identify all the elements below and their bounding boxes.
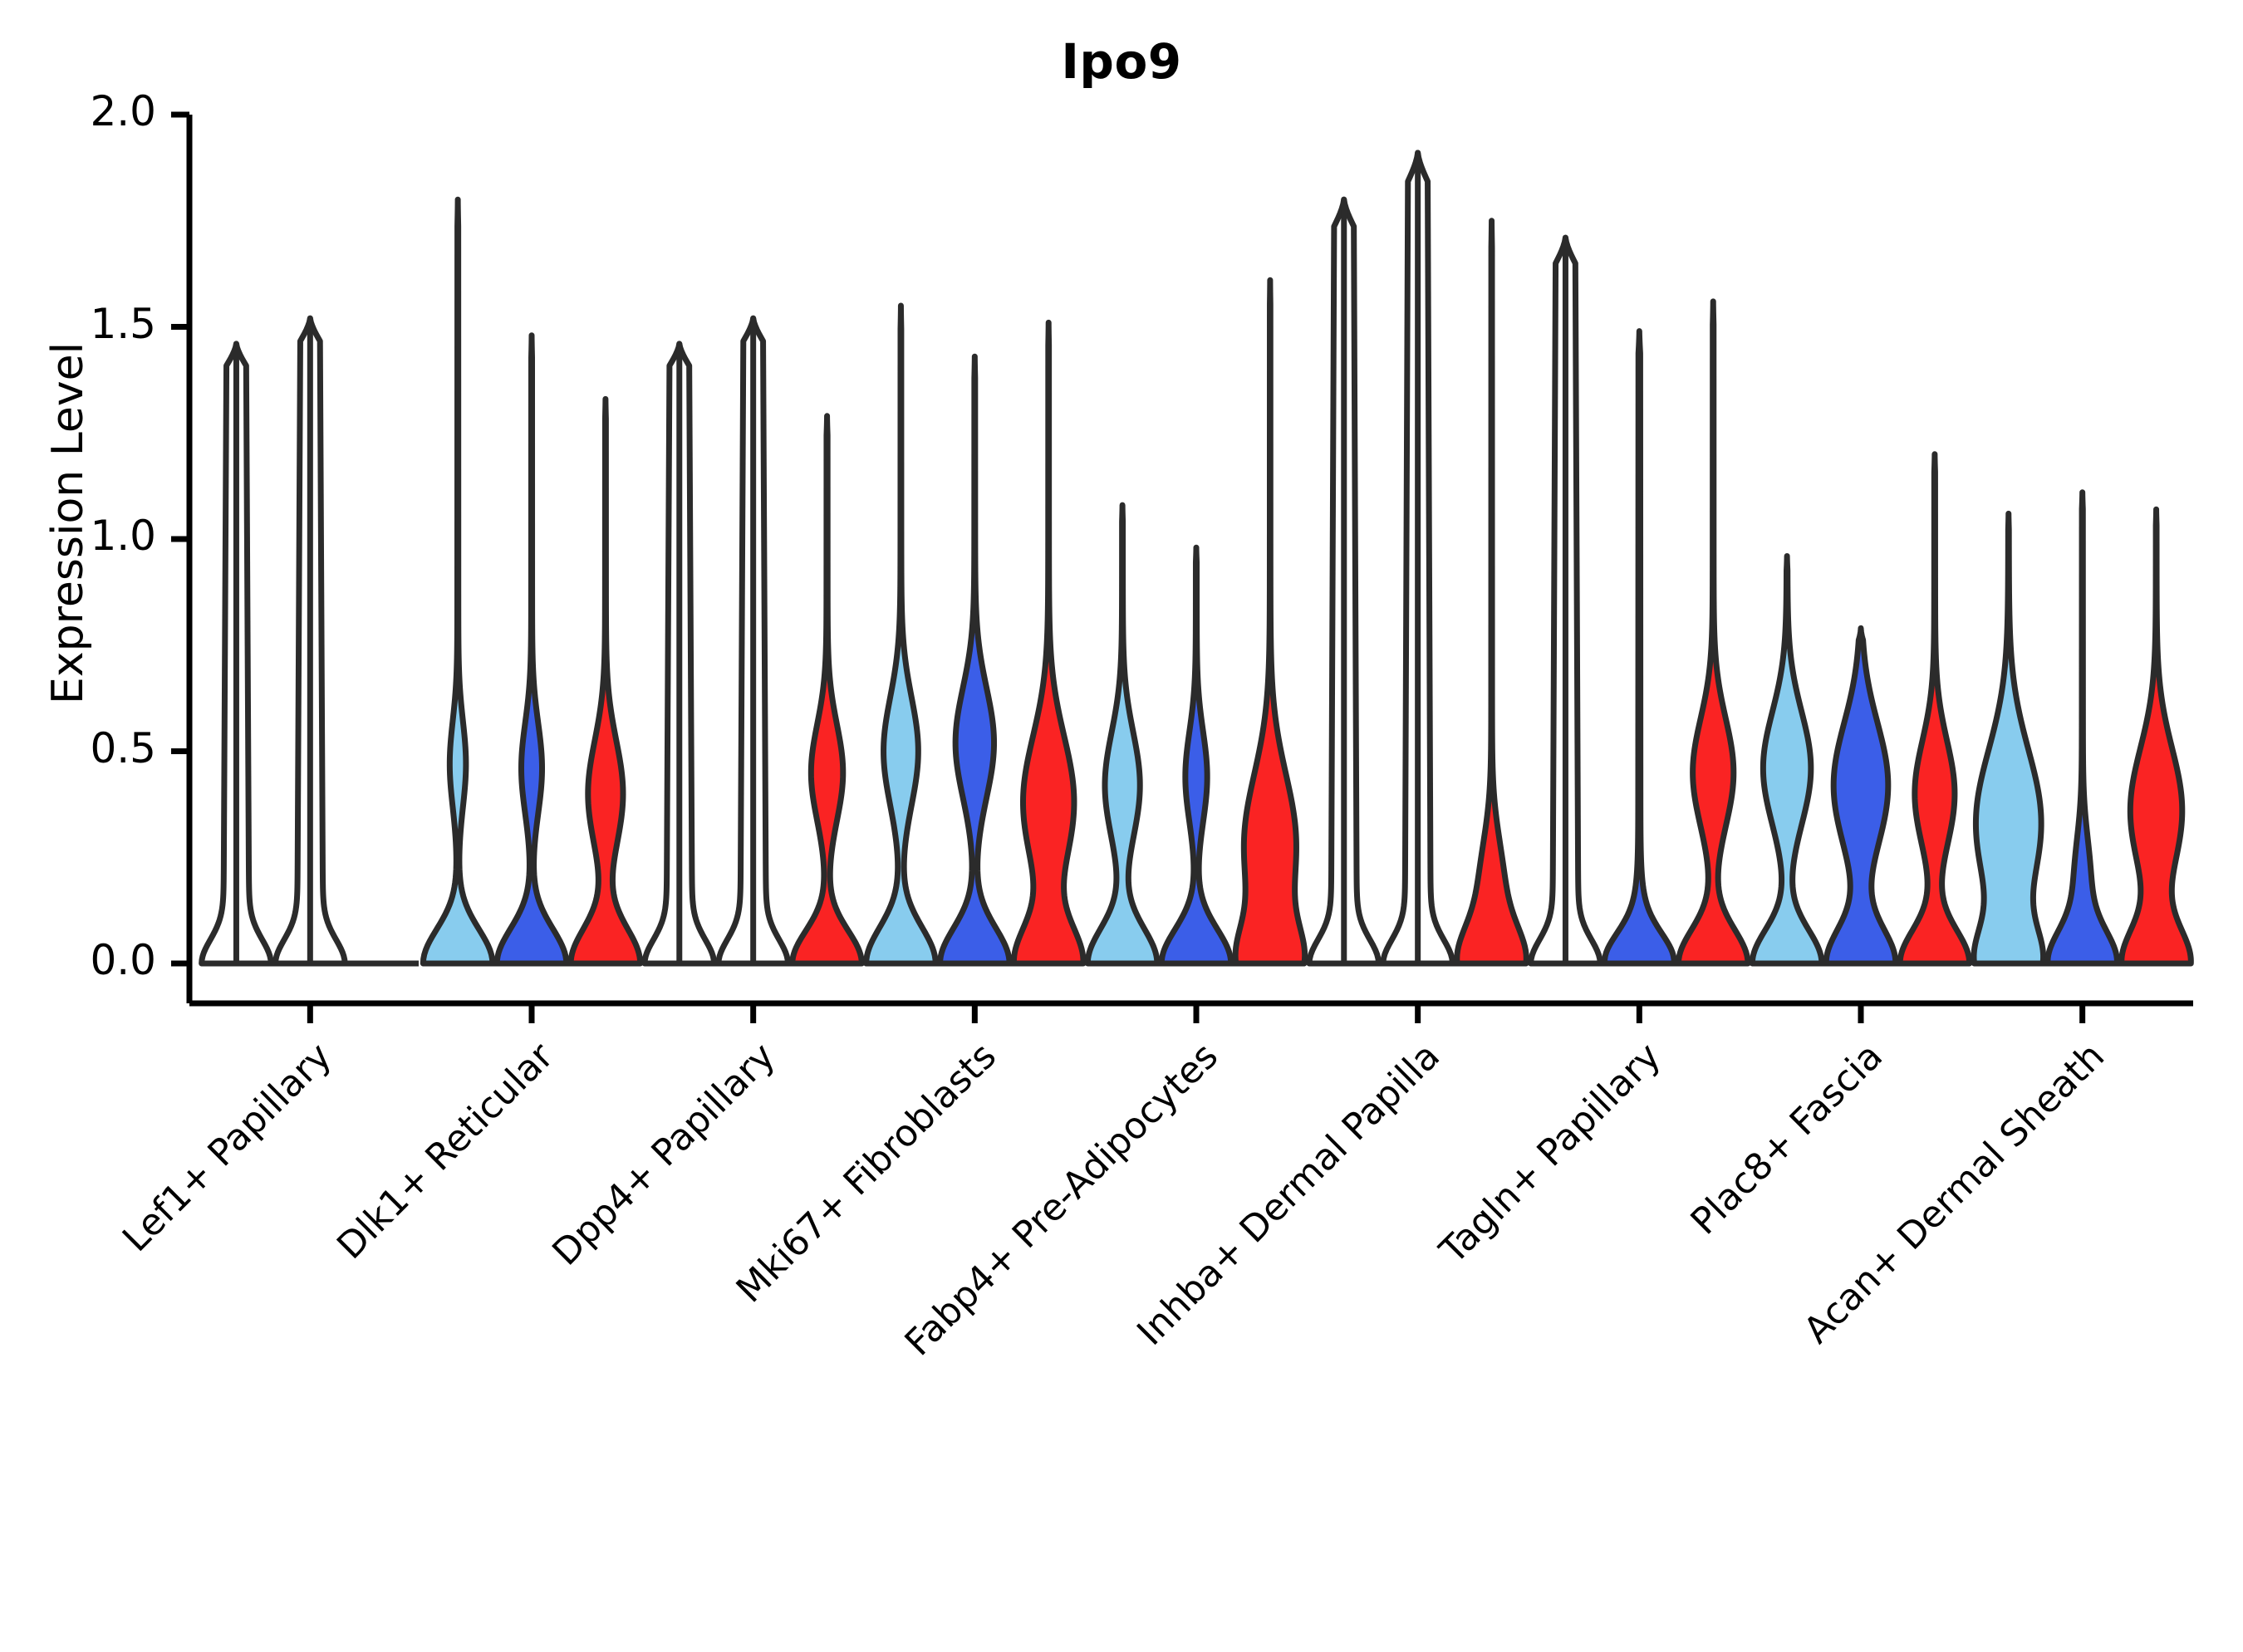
violin-2-group-1[interactable] <box>423 199 493 963</box>
axis-layer <box>171 115 2193 1023</box>
violin-9-group-1[interactable] <box>1974 513 2044 963</box>
violin-8-group-1[interactable] <box>1752 556 1822 963</box>
violin-6-group-3[interactable] <box>1457 221 1527 963</box>
violin-4-group-3[interactable] <box>1014 322 1083 963</box>
violin-3-group-3[interactable] <box>793 416 862 963</box>
violin-9-group-2[interactable] <box>2048 493 2118 963</box>
y-tick-label-2.0: 2.0 <box>23 87 156 135</box>
y-tick-label-0.5: 0.5 <box>23 724 156 772</box>
violin-8-group-2[interactable] <box>1826 628 1896 963</box>
y-tick-label-1.0: 1.0 <box>23 512 156 560</box>
violin-7-group-2[interactable] <box>1605 331 1675 963</box>
y-tick-label-0.0: 0.0 <box>23 936 156 984</box>
violin-7-group-3[interactable] <box>1678 301 1748 963</box>
violin-2-group-2[interactable] <box>497 336 567 963</box>
violin-2-group-3[interactable] <box>571 399 641 963</box>
violin-8-group-3[interactable] <box>1900 454 1970 963</box>
violin-plot-figure: Ipo9 Expression Level 0.00.51.01.52.0 Le… <box>0 0 2243 1495</box>
violin-4-group-2[interactable] <box>940 356 1010 963</box>
y-tick-label-1.5: 1.5 <box>23 300 156 348</box>
violin-5-group-1[interactable] <box>1087 505 1157 963</box>
violin-9-group-3[interactable] <box>2122 509 2191 963</box>
violin-5-group-2[interactable] <box>1161 547 1231 963</box>
violin-5-group-3[interactable] <box>1235 280 1305 963</box>
violins-layer <box>202 153 2191 963</box>
violin-4-group-1[interactable] <box>866 306 936 963</box>
